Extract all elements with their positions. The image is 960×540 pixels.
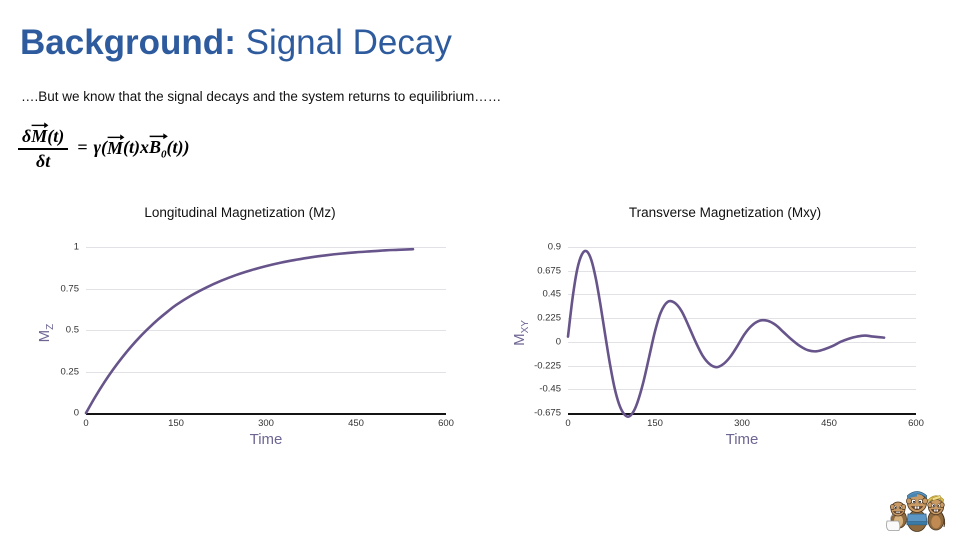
x-axis-tick-label: 0 <box>565 418 570 429</box>
y-axis-title: MXY <box>511 303 531 363</box>
m-vector-numerator: M <box>31 124 47 147</box>
plot-area: 00.250.50.7510150300450600 <box>86 247 446 413</box>
x-axis-tick-label: 150 <box>168 418 184 429</box>
y-axis-tick-label: 0.225 <box>537 313 561 324</box>
y-axis-title-main: M <box>511 333 528 346</box>
m-vector: M <box>107 136 123 159</box>
b-symbol: B <box>149 137 161 157</box>
t-arg-b: (t) <box>167 137 184 158</box>
chart-title: Longitudinal Magnetization (Mz) <box>20 205 460 220</box>
x-axis-tick-label: 0 <box>83 418 88 429</box>
y-axis-tick-label: 0.25 <box>61 366 80 377</box>
x-axis-tick-label: 600 <box>438 418 454 429</box>
t-arg-m: (t) <box>123 137 140 158</box>
y-axis-title-main: M <box>36 330 53 343</box>
close-paren: ) <box>184 137 190 158</box>
y-axis-tick-label: 0 <box>556 336 561 347</box>
y-axis-tick-label: 0.675 <box>537 265 561 276</box>
y-axis-tick-label: 0.45 <box>543 289 562 300</box>
vector-arrow-icon <box>149 132 169 139</box>
chart-longitudinal-magnetization: Longitudinal Magnetization (Mz) 00.250.5… <box>20 205 460 455</box>
equation-numerator: δM(t) <box>18 124 68 148</box>
equals-sign: = <box>77 137 87 158</box>
y-axis-title-sub: XY <box>520 320 531 333</box>
y-axis-tick-label: -0.675 <box>534 408 561 419</box>
vector-arrow-icon <box>107 133 125 140</box>
y-axis-title: MZ <box>36 303 56 363</box>
y-axis-tick-label: -0.45 <box>539 384 561 395</box>
x-axis-title: Time <box>568 431 916 448</box>
x-axis-tick-label: 150 <box>647 418 663 429</box>
y-axis-tick-label: 0 <box>74 408 79 419</box>
b-subscript: 0 <box>161 149 167 161</box>
x-axis-line <box>568 413 916 415</box>
x-axis-tick-label: 600 <box>908 418 924 429</box>
delta-symbol: δ <box>22 126 31 146</box>
cartoon-mascots-logo-icon <box>884 483 952 533</box>
page-title-bold: Background: <box>20 23 236 62</box>
vector-arrow-icon <box>31 121 49 128</box>
curve-layer <box>568 247 916 413</box>
bloch-equation: δM(t) δt = γ ( M (t) x B0 (t) ) <box>18 124 190 172</box>
m-symbol: M <box>107 138 123 158</box>
chart-transverse-magnetization: Transverse Magnetization (Mxy) 0.90.6750… <box>505 205 945 455</box>
x-axis-line <box>86 413 446 415</box>
data-series-line <box>568 251 884 417</box>
gamma-symbol: γ <box>94 137 102 158</box>
y-axis-title-sub: Z <box>45 324 56 330</box>
y-axis-tick-label: 0.5 <box>66 325 79 336</box>
x-axis-tick-label: 300 <box>734 418 750 429</box>
chart-title: Transverse Magnetization (Mxy) <box>505 205 945 220</box>
page-title-light: Signal Decay <box>246 23 452 62</box>
y-axis-tick-label: -0.225 <box>534 360 561 371</box>
plot-area: 0.90.6750.450.2250-0.225-0.45-0.67501503… <box>568 247 916 413</box>
b0-vector: B0 <box>149 135 167 161</box>
curve-layer <box>86 247 446 413</box>
y-axis-tick-label: 0.75 <box>61 283 80 294</box>
x-axis-tick-label: 450 <box>348 418 364 429</box>
subtitle-text: ….But we know that the signal decays and… <box>21 89 501 104</box>
m-symbol: M <box>31 126 47 146</box>
equation-denominator: δt <box>32 150 54 172</box>
x-axis-title: Time <box>86 431 446 448</box>
equation-fraction: δM(t) δt <box>18 124 68 172</box>
y-axis-tick-label: 0.9 <box>548 242 561 253</box>
cross-product-symbol: x <box>140 137 149 158</box>
y-axis-tick-label: 1 <box>74 242 79 253</box>
x-axis-tick-label: 450 <box>821 418 837 429</box>
t-arg-numerator: (t) <box>47 126 64 146</box>
page-title: Background: Signal Decay <box>20 24 452 63</box>
data-series-line <box>86 249 413 413</box>
x-axis-tick-label: 300 <box>258 418 274 429</box>
